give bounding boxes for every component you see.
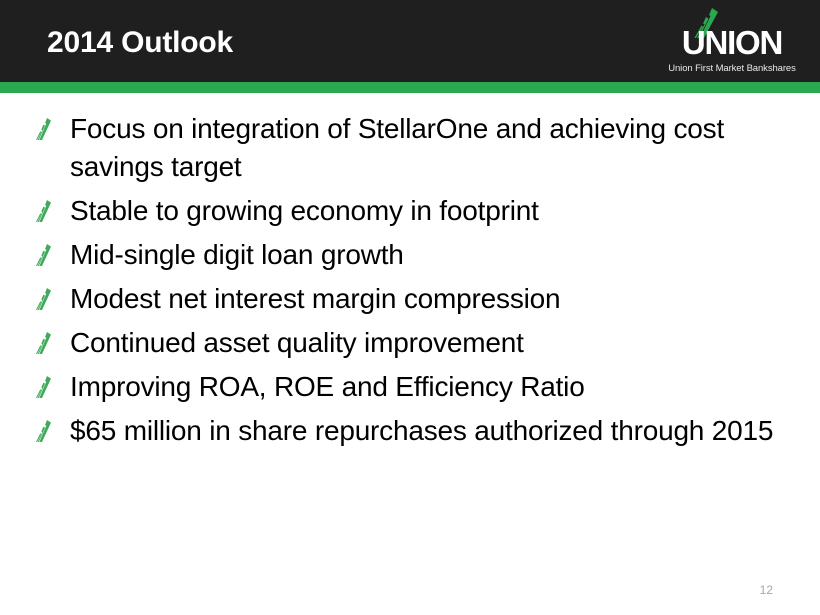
list-item-label: Modest net interest margin compression bbox=[70, 280, 792, 318]
union-wordmark: UNION bbox=[662, 26, 802, 60]
leaf-bullet-icon bbox=[36, 244, 52, 266]
list-item: $65 million in share repurchases authori… bbox=[36, 412, 792, 450]
leaf-bullet-icon bbox=[36, 200, 52, 222]
slide-header: 2014 Outlook UNION Union First Market Ba… bbox=[0, 0, 820, 82]
leaf-bullet-icon bbox=[36, 420, 52, 442]
list-item-label: Stable to growing economy in footprint bbox=[70, 192, 792, 230]
leaf-bullet-icon bbox=[36, 288, 52, 310]
page-title: 2014 Outlook bbox=[47, 26, 233, 60]
slide-body: Focus on integration of StellarOne and a… bbox=[36, 110, 792, 456]
leaf-bullet-icon bbox=[36, 118, 52, 140]
list-item: Modest net interest margin compression bbox=[36, 280, 792, 318]
list-item-label: Focus on integration of StellarOne and a… bbox=[70, 110, 792, 186]
list-item: Continued asset quality improvement bbox=[36, 324, 792, 362]
union-logo: UNION Union First Market Bankshares bbox=[662, 8, 802, 74]
list-item-label: $65 million in share repurchases authori… bbox=[70, 412, 792, 450]
list-item: Stable to growing economy in footprint bbox=[36, 192, 792, 230]
list-item: Focus on integration of StellarOne and a… bbox=[36, 110, 792, 186]
accent-divider bbox=[0, 82, 820, 93]
list-item-label: Mid-single digit loan growth bbox=[70, 236, 792, 274]
leaf-bullet-icon bbox=[36, 332, 52, 354]
union-tagline: Union First Market Bankshares bbox=[662, 63, 802, 74]
list-item: Mid-single digit loan growth bbox=[36, 236, 792, 274]
page-number: 12 bbox=[760, 583, 773, 597]
presentation-slide: 2014 Outlook UNION Union First Market Ba… bbox=[0, 0, 820, 615]
list-item: Improving ROA, ROE and Efficiency Ratio bbox=[36, 368, 792, 406]
list-item-label: Improving ROA, ROE and Efficiency Ratio bbox=[70, 368, 792, 406]
leaf-bullet-icon bbox=[36, 376, 52, 398]
list-item-label: Continued asset quality improvement bbox=[70, 324, 792, 362]
